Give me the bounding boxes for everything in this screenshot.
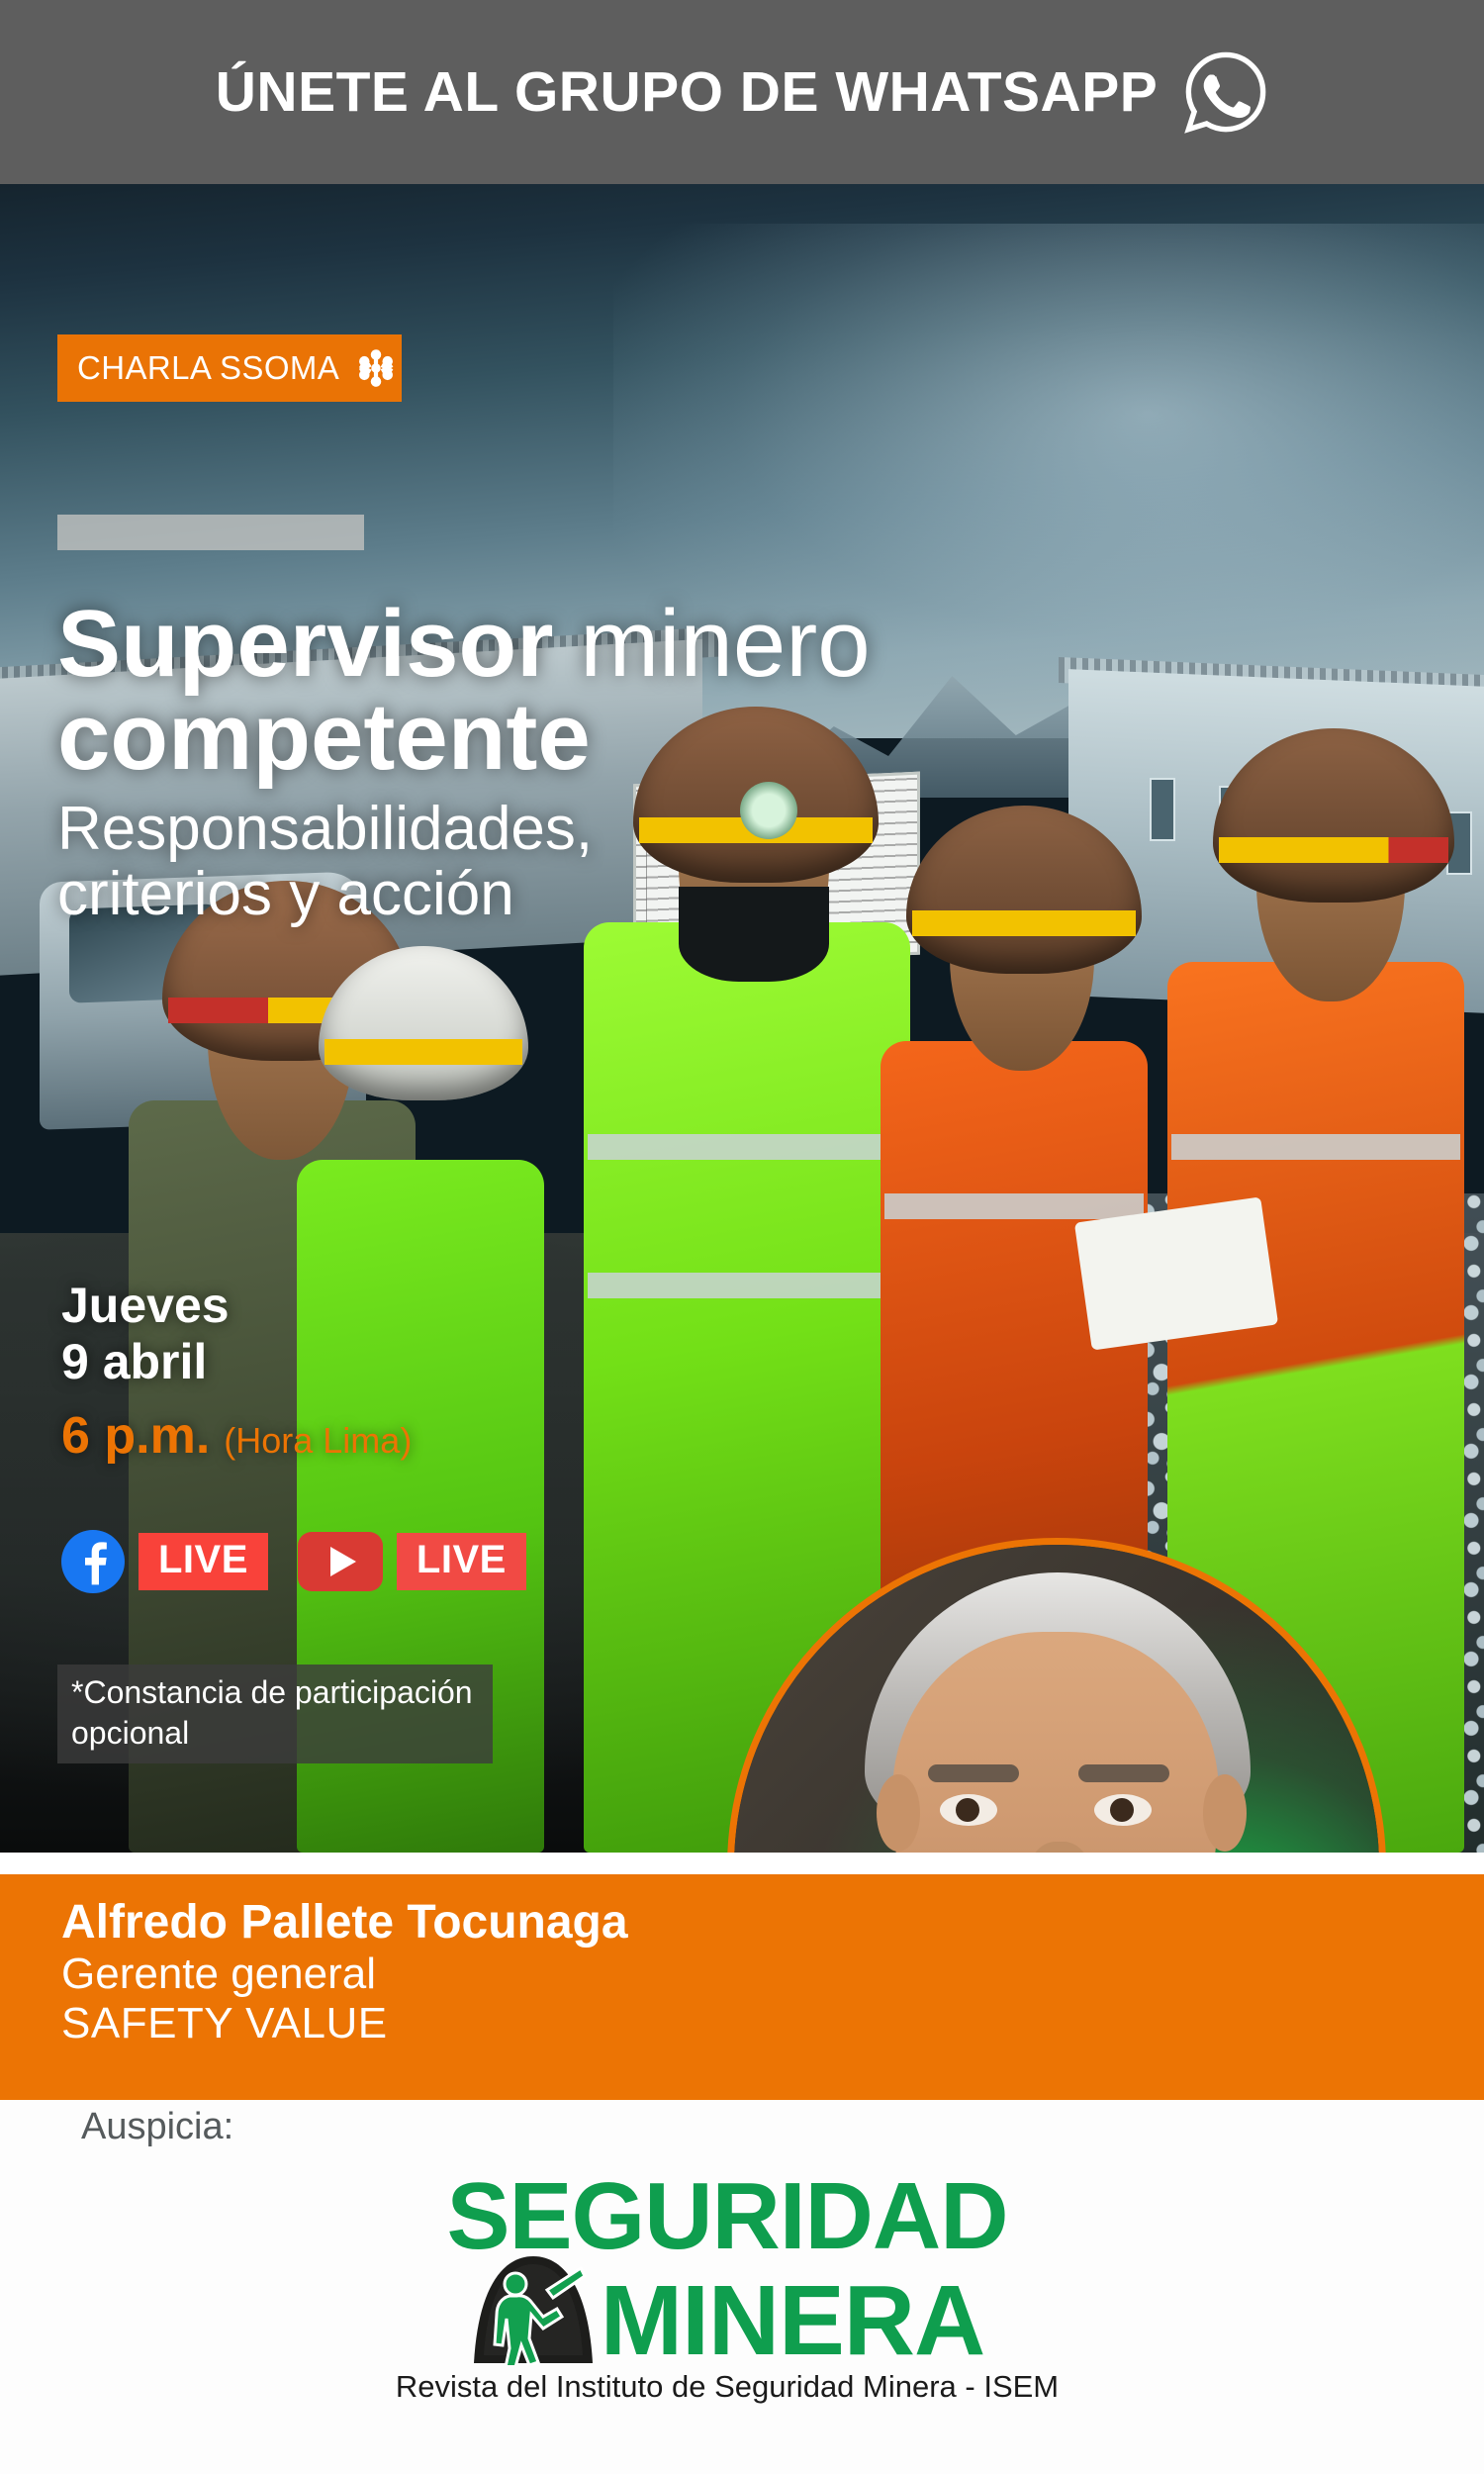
live-platforms-row: LIVE LIVE [61,1530,526,1593]
title-light-word: minero [554,591,871,697]
speaker-info-bar: Alfredo Pallete Tocunaga Gerente general… [0,1874,1484,2100]
whatsapp-banner[interactable]: ÚNETE AL GRUPO DE WHATSAPP [0,0,1484,184]
auspicia-label: Auspicia: [81,2106,233,2148]
event-date: 9 abril [61,1334,412,1390]
event-day: Jueves [61,1278,412,1334]
whatsapp-banner-label: ÚNETE AL GRUPO DE WHATSAPP [216,59,1159,125]
logo-bottom-word: MINERA [601,2276,984,2365]
title-bold-word: Supervisor [57,591,554,697]
speaker-brow [928,1764,1019,1782]
charla-badge-label: CHARLA SSOMA [77,349,339,387]
speaker-ear [877,1774,920,1852]
logo-tagline: Revista del Instituto de Seguridad Miner… [297,2369,1158,2405]
speaker-eye [940,1794,997,1826]
speaker-eye [1094,1794,1152,1826]
participation-note: *Constancia de participación opcional [57,1665,493,1763]
speaker-organization: SAFETY VALUE [61,1999,1484,2048]
event-timezone: (Hora Lima) [224,1420,412,1462]
title-block: Supervisor minero competente Responsabil… [57,598,1373,927]
title-line-2: competente [57,690,1373,785]
subtitle-line-2: criterios y acción [57,862,1373,927]
logo-middle-row: MINERA [297,2254,1158,2365]
subtitle-line-1: Responsabilidades, [57,797,1373,862]
title-line-1: Supervisor minero [57,598,1373,690]
facebook-icon[interactable] [61,1530,125,1593]
speaker-ear [1203,1774,1247,1852]
youtube-play-icon[interactable] [298,1532,383,1591]
facebook-live-badge[interactable]: LIVE [139,1533,268,1590]
charla-ssoma-badge[interactable]: CHARLA SSOMA [57,334,402,402]
hero-photo: CHARLA SSOMA Supervisor minero competent… [0,184,1484,1853]
speaker-name: Alfredo Pallete Tocunaga [61,1896,1484,1950]
speaker-avatar [727,1538,1386,1853]
event-date-block: Jueves 9 abril 6 p.m. (Hora Lima) [61,1278,412,1466]
miner-arch-icon [470,2254,597,2365]
event-time-row: 6 p.m. (Hora Lima) [61,1406,412,1466]
flower-asterisk-icon [355,347,397,389]
speaker-role: Gerente general [61,1950,1484,1999]
speaker-brow [1078,1764,1169,1782]
seguridad-minera-logo: SEGURIDAD MINERA Revista del Instituto d… [297,2173,1158,2405]
youtube-live-badge[interactable]: LIVE [397,1533,526,1590]
charla-badge-shadow [57,515,364,550]
logo-top-word: SEGURIDAD [297,2173,1158,2260]
whatsapp-icon [1183,49,1268,135]
event-time: 6 p.m. [61,1406,210,1466]
